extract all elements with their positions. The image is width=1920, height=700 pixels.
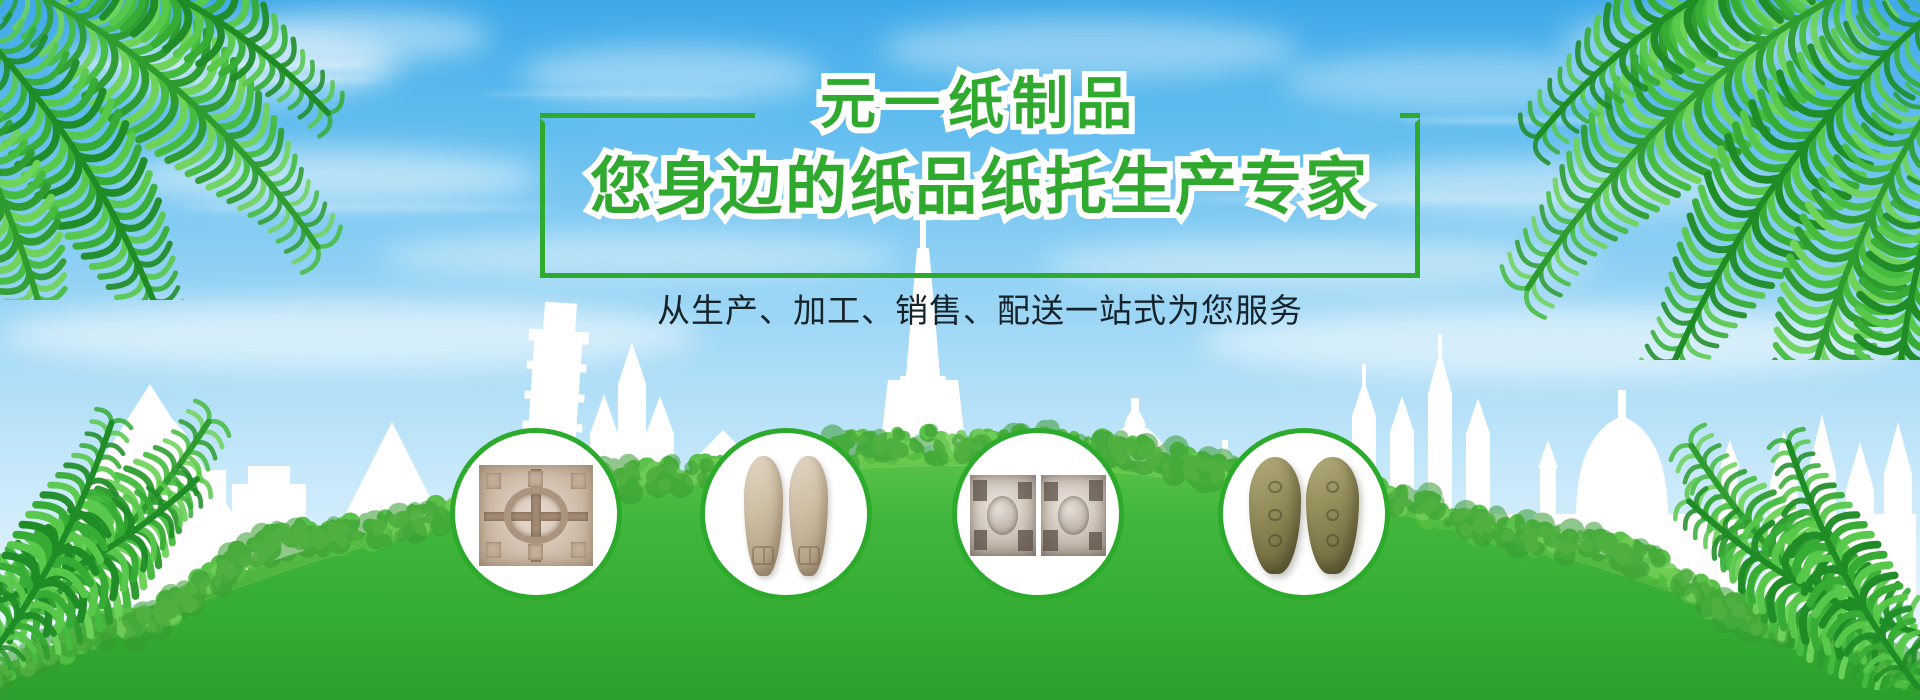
paper-pulp-shoe-insert-light <box>705 433 867 595</box>
product-circle-3[interactable] <box>952 428 1124 600</box>
product-circle-1[interactable] <box>450 428 622 600</box>
molded-pulp-tray-pair <box>957 433 1119 595</box>
product-circle-4[interactable] <box>1218 428 1390 600</box>
promo-banner: 元一纸制品 您身边的纸品纸托生产专家 从生产、加工、销售、配送一站式为您服务 <box>0 0 1920 700</box>
product-circle-2[interactable] <box>700 428 872 600</box>
paper-pulp-shoe-insert-olive <box>1223 433 1385 595</box>
headline-line-1: 元一纸制品 <box>540 74 1420 136</box>
headline-line-2: 您身边的纸品纸托生产专家 <box>540 152 1420 222</box>
molded-pulp-square-tray <box>455 433 617 595</box>
product-circle-row <box>0 380 1920 700</box>
subtitle-text: 从生产、加工、销售、配送一站式为您服务 <box>540 290 1420 332</box>
headline-frame: 元一纸制品 您身边的纸品纸托生产专家 <box>540 118 1420 278</box>
